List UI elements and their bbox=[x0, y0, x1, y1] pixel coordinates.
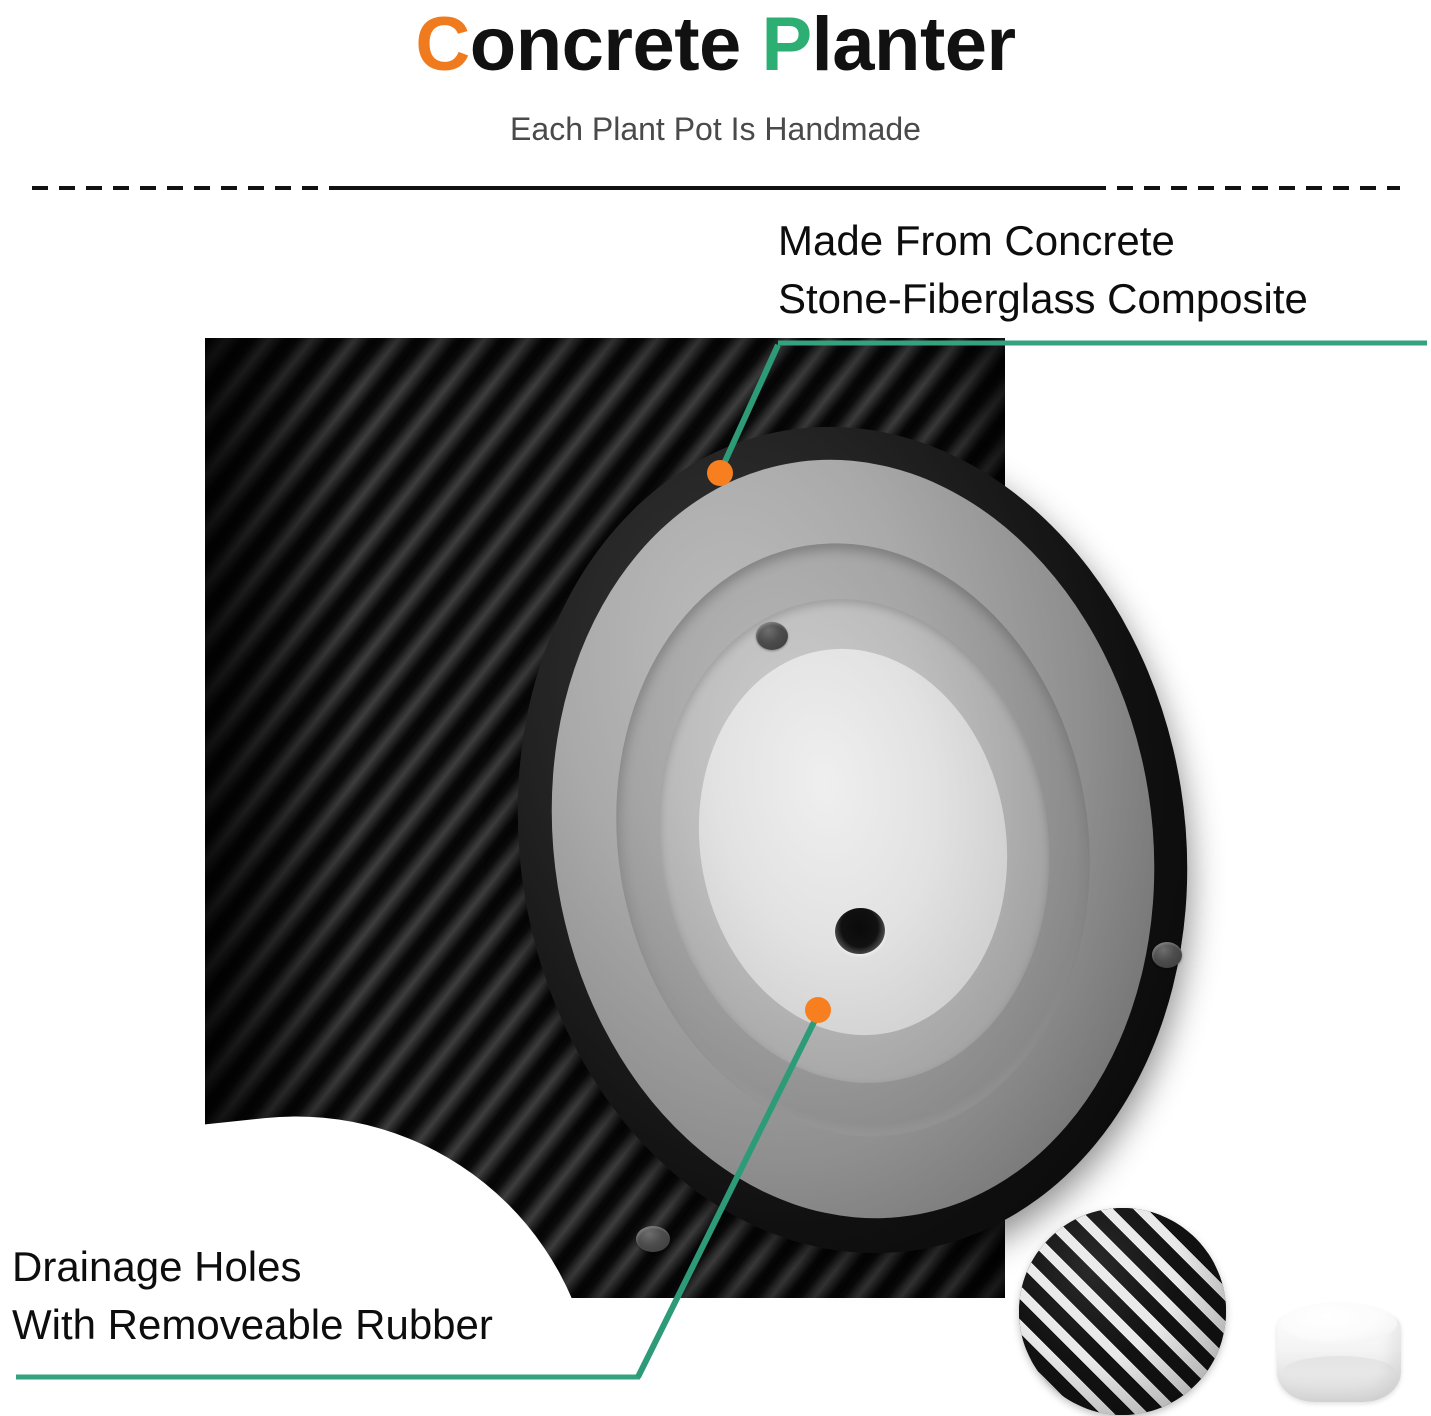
title-rest-1: oncrete bbox=[470, 2, 762, 87]
title-accent-c: C bbox=[415, 2, 469, 87]
callout-drainage-text: Drainage Holes With Removeable Rubber bbox=[12, 1238, 493, 1354]
title-rest-2: lanter bbox=[812, 2, 1016, 87]
rubber-plug-hole-top bbox=[756, 622, 788, 650]
drainage-mesh-screen-image bbox=[1019, 1208, 1226, 1415]
mesh-shading bbox=[1019, 1208, 1226, 1415]
infographic-page: Concrete Planter Each Plant Pot Is Handm… bbox=[0, 0, 1431, 1416]
callout-material-line2: Stone-Fiberglass Composite bbox=[778, 270, 1308, 328]
rubber-plug-hole-right bbox=[1152, 942, 1182, 968]
header-divider bbox=[32, 186, 1400, 190]
title-accent-p: P bbox=[761, 2, 811, 87]
rubber-plug-image bbox=[1277, 1300, 1401, 1404]
callout-material-line1: Made From Concrete bbox=[778, 212, 1308, 270]
rubber-plug-hole-bottom bbox=[636, 1226, 670, 1252]
page-subtitle: Each Plant Pot Is Handmade bbox=[0, 108, 1431, 150]
callout-drainage-line2: With Removeable Rubber bbox=[12, 1296, 493, 1354]
page-title: Concrete Planter bbox=[0, 2, 1431, 88]
callout-material-text: Made From Concrete Stone-Fiberglass Comp… bbox=[778, 212, 1308, 328]
callout-drainage-line1: Drainage Holes bbox=[12, 1238, 493, 1296]
rubber-plug-lip bbox=[1283, 1356, 1395, 1386]
rubber-plug-top-face bbox=[1281, 1302, 1397, 1344]
